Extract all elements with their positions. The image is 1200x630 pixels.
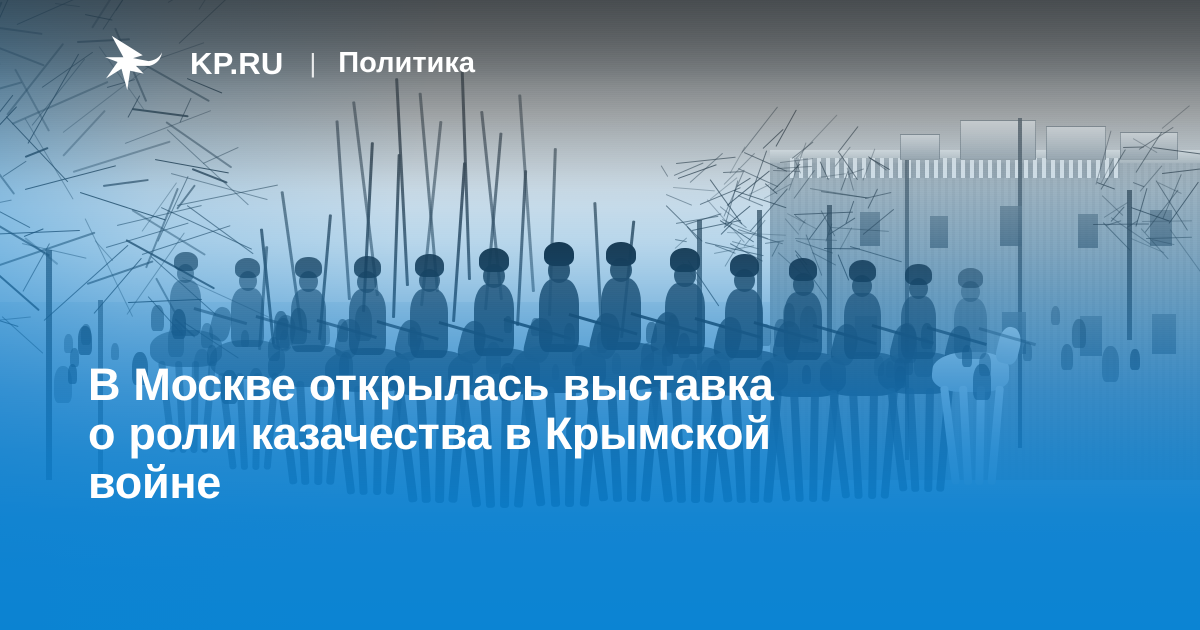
header-separator: | xyxy=(309,50,316,76)
swallow-bird-logo-icon[interactable] xyxy=(104,34,166,92)
social-share-card: KP.RU | Политика В Москве открылась выст… xyxy=(0,0,1200,630)
headline-line-2: о роли казачества в Крымской xyxy=(88,409,988,458)
headline-line-1: В Москве открылась выставка xyxy=(88,360,988,409)
headline-line-3: войне xyxy=(88,458,988,507)
card-header: KP.RU | Политика xyxy=(0,0,1200,126)
brand-name[interactable]: KP.RU xyxy=(190,48,283,79)
rubric-label[interactable]: Политика xyxy=(338,49,475,78)
article-headline[interactable]: В Москве открылась выставка о роли казач… xyxy=(88,360,988,507)
